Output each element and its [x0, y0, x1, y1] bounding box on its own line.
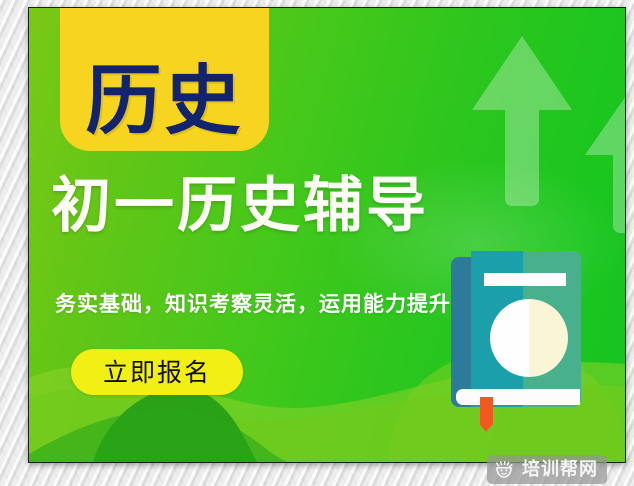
enroll-now-button[interactable]: 立即报名 — [71, 349, 243, 395]
watermark: 培训帮网 — [487, 455, 607, 484]
subject-badge-label: 历史 — [86, 63, 244, 139]
arrow-shaft — [613, 147, 625, 233]
up-arrow-icon — [472, 36, 572, 206]
subject-badge: 历史 — [60, 8, 269, 151]
book-title-bar — [484, 273, 566, 286]
watermark-label: 培训帮网 — [522, 461, 598, 479]
arrow-head — [472, 36, 572, 110]
subtitle-text: 务实基础，知识考察灵活，运用能力提升 — [55, 288, 451, 318]
arrow-head — [585, 93, 625, 155]
textbook-icon — [451, 251, 584, 414]
book-pages — [456, 389, 580, 405]
arrow-shaft — [505, 100, 539, 206]
sun-face-icon — [493, 459, 515, 481]
page-title: 初一历史辅导 — [51, 176, 429, 236]
enroll-now-button-label: 立即报名 — [103, 360, 211, 385]
book-bookmark — [480, 397, 493, 425]
book-spine — [451, 257, 473, 407]
up-arrow-small-icon — [585, 93, 625, 233]
course-banner: 历史 初一历史辅导 务实基础，知识考察灵活，运用能力提升 立即报名 — [29, 8, 625, 462]
poster-frame: 历史 初一历史辅导 务实基础，知识考察灵活，运用能力提升 立即报名 — [0, 0, 634, 486]
